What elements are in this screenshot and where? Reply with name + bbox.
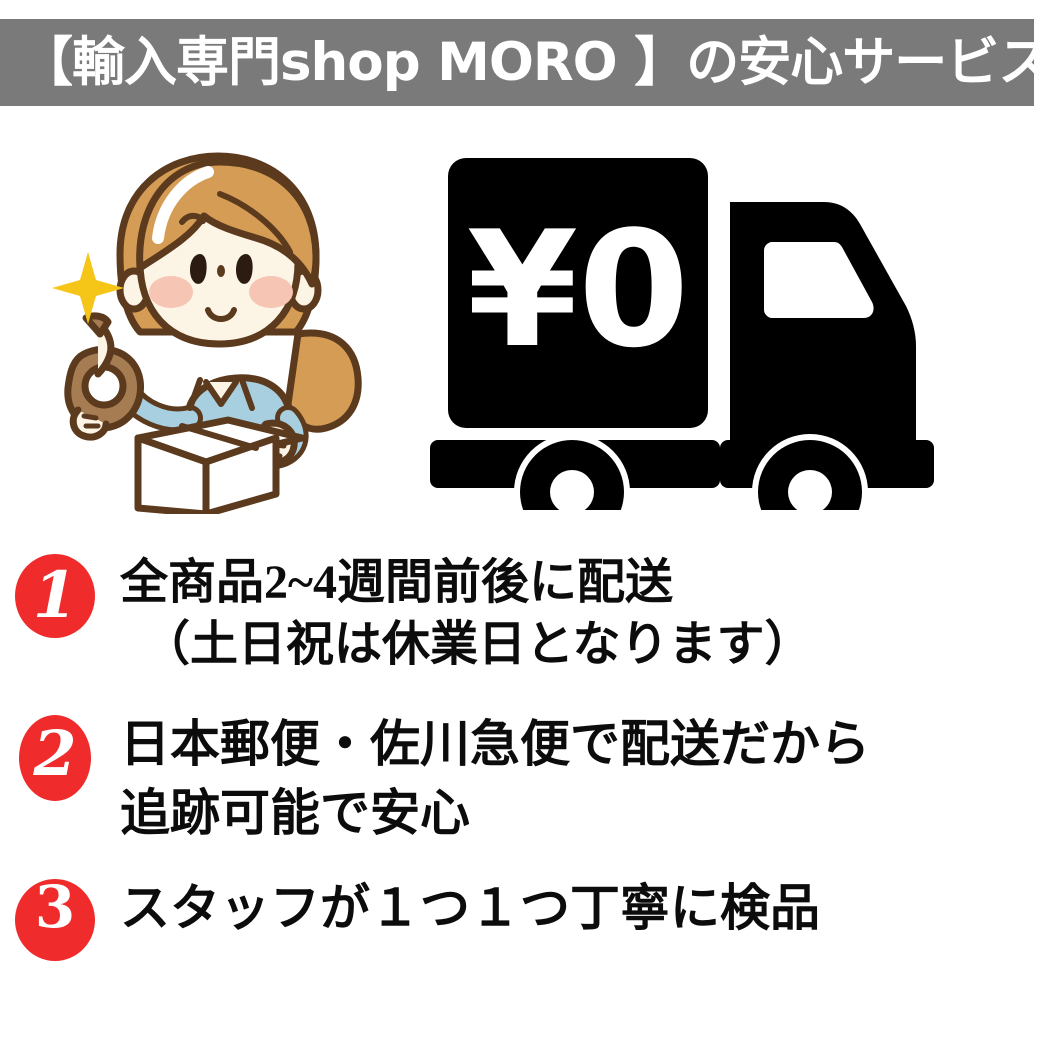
badge-number-1: 1: [14, 548, 96, 644]
service-item-2: 2 日本郵便・佐川急便で配送だから 追跡可能で安心: [14, 710, 1040, 878]
nose: [217, 265, 225, 277]
service-item-3-line-1: スタッフが１つ１つ丁寧に検品: [120, 878, 1040, 938]
service-list: 1 全商品2~4週間前後に配送 （土日祝は休業日となります） 2 日本郵便・佐川…: [0, 548, 1040, 994]
badge-number-3: 3: [14, 874, 96, 970]
illustration-row: ¥0: [0, 120, 1040, 540]
badge-number-label: 3: [35, 878, 75, 936]
sparkle-icon: [52, 252, 124, 324]
page-title: 【輸入専門shop MORO 】の安心サービス: [20, 36, 1040, 89]
header-banner: 【輸入専門shop MORO 】の安心サービス: [0, 19, 1034, 106]
service-item-3-text: スタッフが１つ１つ丁寧に検品: [96, 874, 1040, 938]
truck-price-label: ¥0: [467, 196, 690, 383]
service-item-1-line-2: （土日祝は休業日となります）: [120, 614, 1040, 676]
cheek-left: [149, 276, 193, 308]
service-item-2-line-1: 日本郵便・佐川急便で配送だから: [120, 710, 1040, 779]
cheek-right: [249, 276, 293, 308]
service-item-1: 1 全商品2~4週間前後に配送 （土日祝は休業日となります）: [14, 548, 1040, 698]
service-item-1-line-1: 全商品2~4週間前後に配送: [120, 552, 1040, 614]
staff-packing-illustration: [40, 142, 380, 519]
service-item-2-line-2: 追跡可能で安心: [120, 779, 1040, 848]
badge-number-label: 2: [33, 723, 76, 785]
truck-cab: [730, 202, 916, 440]
service-item-2-text: 日本郵便・佐川急便で配送だから 追跡可能で安心: [96, 710, 1040, 848]
free-shipping-truck-icon: ¥0: [420, 140, 1000, 515]
badge-number-label: 1: [33, 564, 78, 628]
service-item-1-text: 全商品2~4週間前後に配送 （土日祝は休業日となります）: [96, 548, 1040, 677]
badge-number-2: 2: [14, 710, 96, 814]
service-item-3: 3 スタッフが１つ１つ丁寧に検品: [14, 874, 1040, 994]
cardboard-box: [138, 420, 302, 514]
